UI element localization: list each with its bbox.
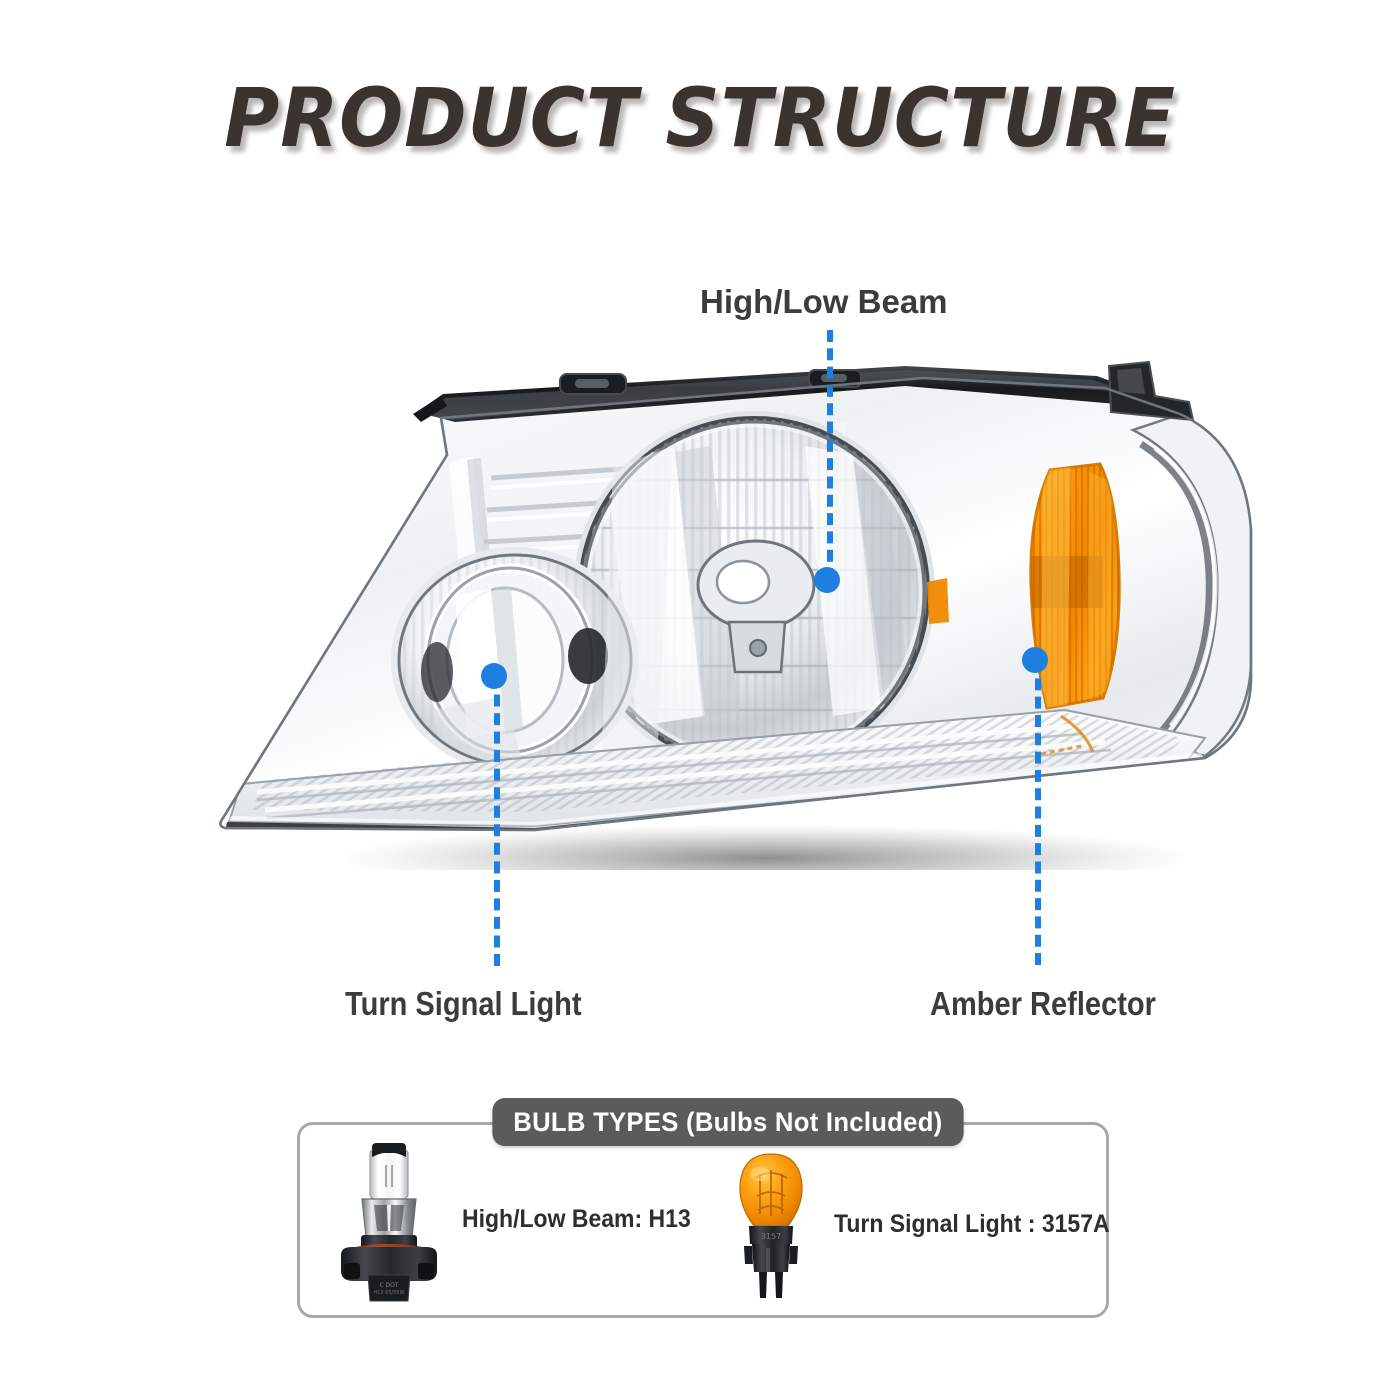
headlight-housing [220,362,1251,838]
svg-text:3157: 3157 [761,1232,781,1241]
callout-label-amber-reflector: Amber Reflector [930,985,1156,1023]
svg-text:C DOT: C DOT [379,1282,398,1289]
leader-line-turn-signal [494,676,500,966]
bulb-item-3157a: 3157 Turn Signal Light : 3157A [722,1148,1134,1300]
marker-dot-amber-reflector [1022,647,1048,673]
marker-dot-high-low-beam [814,567,840,593]
drop-shadow [335,824,1195,870]
leader-line-amber-reflector [1035,660,1041,965]
leader-line-high-low-beam [827,330,833,580]
turn-signal-reflector [391,547,639,773]
marker-dot-turn-signal [481,663,507,689]
product-structure-infographic: PRODUCT STRUCTURE [0,0,1400,1400]
callout-label-high-low-beam: High/Low Beam [700,283,948,321]
page-title: PRODUCT STRUCTURE [49,72,1351,166]
callout-label-turn-signal: Turn Signal Light [345,985,582,1023]
bulb-label-h13: High/Low Beam: H13 [462,1205,691,1234]
headlight-assembly-image [205,360,1270,870]
bulb-label-3157a: Turn Signal Light : 3157A [834,1210,1110,1239]
halogen-bulb-icon: C DOT H13 65/55W [330,1135,448,1303]
amber-wedge-bulb-icon: 3157 [722,1148,820,1300]
svg-text:H13 65/55W: H13 65/55W [373,1290,404,1296]
bulb-item-h13: C DOT H13 65/55W High/Low Beam: H13 [330,1135,711,1303]
